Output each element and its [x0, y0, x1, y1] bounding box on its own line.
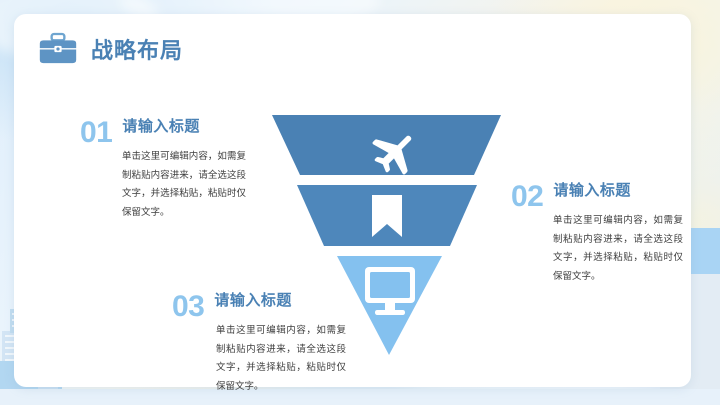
info-block-03-number: 03: [172, 292, 204, 322]
info-block-01: 01 请输入标题 单击这里可编辑内容，如需复制粘贴内容进来，请全选这段文字，并选…: [80, 118, 250, 222]
funnel-segment-1: [272, 115, 501, 175]
content-card: 战略布局: [14, 14, 691, 387]
info-block-01-title: 请输入标题: [122, 118, 200, 137]
info-block-02-header: 02 请输入标题: [511, 182, 691, 212]
info-block-03-title: 请输入标题: [214, 292, 292, 311]
info-block-03: 03 请输入标题 单击这里可编辑内容，如需复制粘贴内容进来，请全选这段文字，并选…: [172, 292, 352, 396]
funnel-segment-2: [297, 185, 477, 246]
info-block-01-body: 单击这里可编辑内容，如需复制粘贴内容进来，请全选这段文字，并选择粘贴，粘贴时仅保…: [122, 148, 246, 222]
info-block-01-header: 01 请输入标题: [80, 118, 250, 148]
slide-header: 战略布局: [38, 32, 183, 66]
info-block-02: 02 请输入标题 单击这里可编辑内容，如需复制粘贴内容进来，请全选这段文字，并选…: [511, 182, 691, 286]
info-block-01-number: 01: [80, 118, 112, 148]
briefcase-icon: [38, 32, 78, 66]
info-block-03-header: 03 请输入标题: [172, 292, 352, 322]
funnel-segment-3: [337, 256, 442, 355]
info-block-02-body: 单击这里可编辑内容，如需复制粘贴内容进来，请全选这段文字，并选择粘贴，粘贴时仅保…: [553, 212, 683, 286]
slide-canvas: 战略布局: [0, 0, 720, 405]
bottom-accent-strip: [0, 389, 720, 405]
info-block-02-number: 02: [511, 182, 543, 212]
info-block-02-title: 请输入标题: [553, 182, 631, 201]
info-block-03-body: 单击这里可编辑内容，如需复制粘贴内容进来，请全选这段文字，并选择粘贴，粘贴时仅保…: [216, 322, 346, 396]
page-title: 战略布局: [91, 33, 183, 65]
